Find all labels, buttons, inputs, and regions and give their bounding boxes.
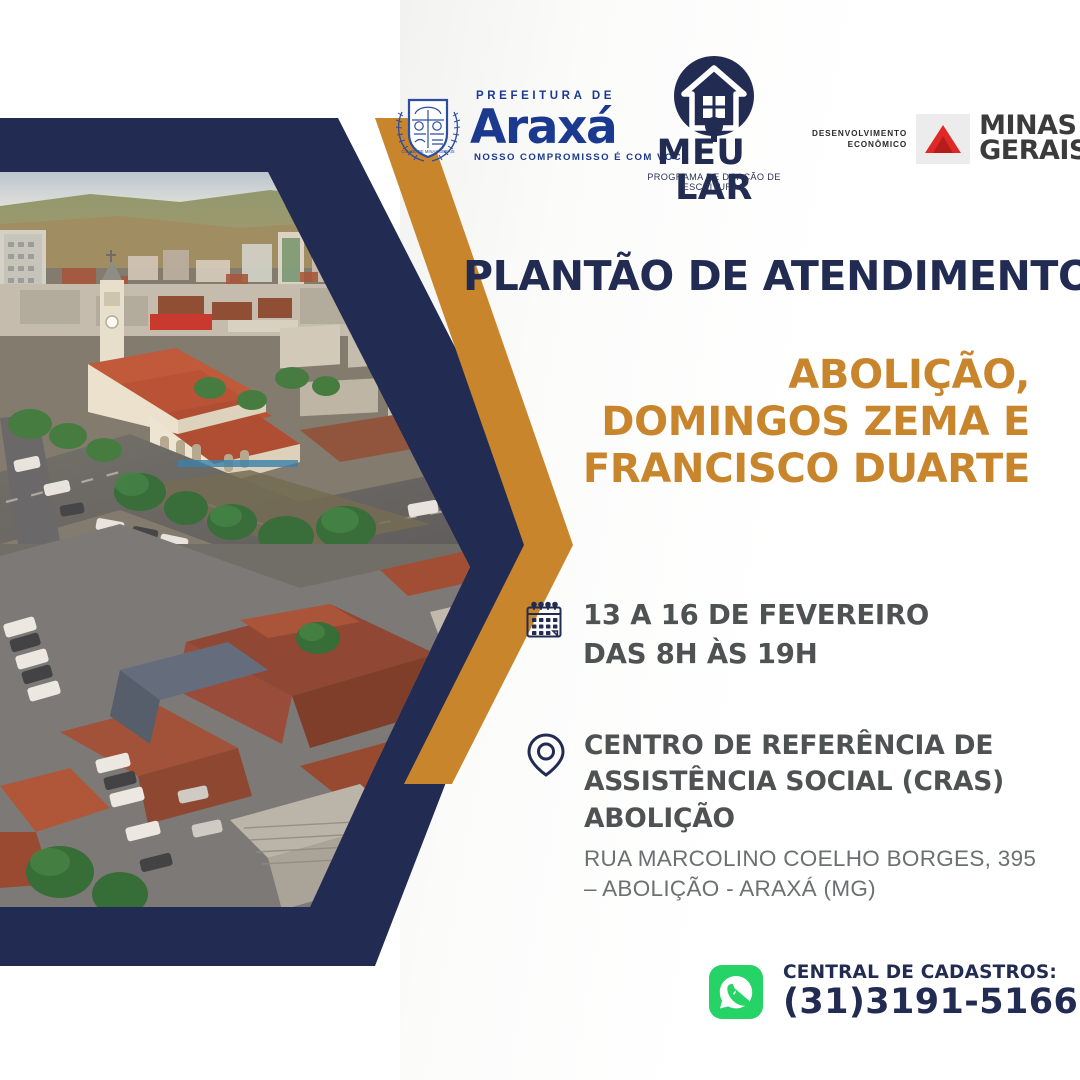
date-text: 13 A 16 DE FEVEREIRO DAS 8H ÀS 19H <box>583 596 929 674</box>
page-title: PLANTÃO DE ATENDIMENTO <box>463 252 1063 300</box>
mg-department-line2: ECONÔMICO <box>812 139 907 150</box>
araxa-name: Araxá <box>470 104 616 151</box>
neighborhoods-subtitle: ABOLIÇÃO, DOMINGOS ZEMA E FRANCISCO DUAR… <box>520 352 1030 494</box>
contact-label: CENTRAL DE CADASTROS: <box>783 962 1078 983</box>
location-block: CENTRO DE REFERÊNCIA DE ASSISTÊNCIA SOCI… <box>526 728 1036 905</box>
svg-text:CIDADE DE MINAS GERAIS: CIDADE DE MINAS GERAIS <box>401 149 454 154</box>
map-pin-icon <box>526 732 566 778</box>
location-address: RUA MARCOLINO COELHO BORGES, 395 – ABOLI… <box>584 844 1036 905</box>
meu-lar-word-left: MEU <box>657 133 746 173</box>
meu-lar-wordmark: MEULAR <box>621 136 807 206</box>
location-name: CENTRO DE REFERÊNCIA DE ASSISTÊNCIA SOCI… <box>584 728 1036 837</box>
subtitle-line-2: DOMINGOS ZEMA E <box>520 399 1030 446</box>
contact-text: CENTRAL DE CADASTROS: (31)3191-5166 <box>783 962 1078 1022</box>
logo-row: CIDADE DE MINAS GERAIS PREFEITURA DE Ara… <box>0 0 1080 185</box>
araxa-crest-icon: CIDADE DE MINAS GERAIS <box>392 90 464 164</box>
date-line-1: 13 A 16 DE FEVEREIRO <box>583 596 929 635</box>
location-name-line-3: ABOLIÇÃO <box>584 801 1036 837</box>
mg-triangle-mark <box>916 114 970 164</box>
mg-department-line1: DESENVOLVIMENTO <box>812 128 907 139</box>
date-line-2: DAS 8H ÀS 19H <box>583 635 929 674</box>
address-line-2: – ABOLIÇÃO - ARAXÁ (MG) <box>584 874 1036 904</box>
house-key-icon <box>672 56 756 142</box>
logo-minas-gerais: DESENVOLVIMENTO ECONÔMICO MINAS GERAIS G… <box>812 112 1080 166</box>
subtitle-line-3: FRANCISCO DUARTE <box>520 446 1030 493</box>
location-text: CENTRO DE REFERÊNCIA DE ASSISTÊNCIA SOCI… <box>584 728 1036 905</box>
mg-department: DESENVOLVIMENTO ECONÔMICO <box>812 128 907 150</box>
location-name-line-2: ASSISTÊNCIA SOCIAL (CRAS) <box>584 764 1036 800</box>
mg-name: MINAS GERAIS <box>979 114 1080 164</box>
whatsapp-icon[interactable] <box>709 965 763 1019</box>
meu-lar-subtitle: PROGRAMA DE DOAÇÃO DE ESCRITURAS <box>621 172 807 192</box>
logo-meu-lar: MEULAR PROGRAMA DE DOAÇÃO DE ESCRITURAS <box>621 56 807 174</box>
calendar-icon <box>524 600 564 640</box>
date-block: 13 A 16 DE FEVEREIRO DAS 8H ÀS 19H <box>524 596 929 674</box>
mg-mountain-icon <box>924 123 962 155</box>
poster-canvas: CIDADE DE MINAS GERAIS PREFEITURA DE Ara… <box>0 0 1080 1080</box>
contact-block[interactable]: CENTRAL DE CADASTROS: (31)3191-5166 <box>709 962 1078 1022</box>
subtitle-line-1: ABOLIÇÃO, <box>520 352 1030 399</box>
address-line-1: RUA MARCOLINO COELHO BORGES, 395 <box>584 844 1036 874</box>
mg-name-line2: GERAIS <box>979 139 1080 164</box>
contact-phone[interactable]: (31)3191-5166 <box>783 983 1078 1022</box>
location-name-line-1: CENTRO DE REFERÊNCIA DE <box>584 728 1036 764</box>
